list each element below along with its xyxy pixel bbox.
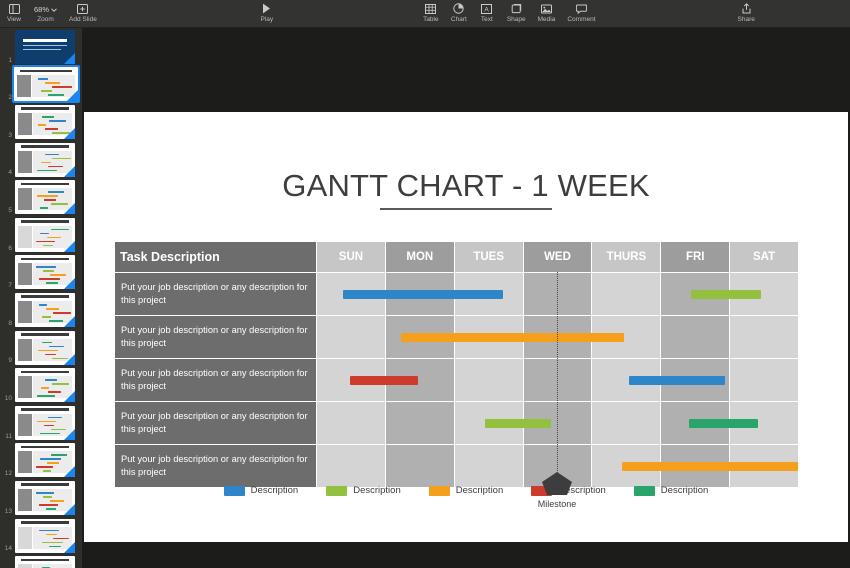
- thumb-task-column: [18, 489, 32, 511]
- milestone-line: [557, 272, 558, 487]
- thumb-bar: [37, 170, 57, 172]
- gantt-cell-sun: [316, 445, 385, 487]
- slide-thumbnail-12[interactable]: 12: [0, 442, 82, 480]
- thumb-line: [23, 49, 61, 51]
- thumb-bar: [39, 304, 47, 306]
- thumbnail-frame[interactable]: [15, 331, 75, 365]
- thumb-bar: [36, 241, 55, 243]
- thumb-corner-flag: [64, 316, 75, 327]
- keynote-window: View 68% Zoom Add Slide Play: [0, 0, 850, 568]
- gantt-cell-thurs: [591, 273, 660, 315]
- thumb-bar: [36, 492, 54, 494]
- page-title: GANTT CHART - 1 WEEK: [84, 168, 848, 204]
- thumb-bar: [37, 421, 56, 423]
- table-button[interactable]: Table: [417, 0, 445, 24]
- shape-icon: [508, 2, 524, 15]
- slide-thumbnail-9[interactable]: 9: [0, 329, 82, 367]
- thumb-corner-flag: [64, 354, 75, 365]
- thumb-bar: [42, 342, 52, 344]
- thumb-corner-flag: [64, 429, 75, 440]
- thumb-task-column: [18, 376, 32, 398]
- thumb-bar: [46, 282, 58, 284]
- gantt-bar[interactable]: [689, 419, 759, 428]
- slide-number: 8: [2, 320, 15, 329]
- day-header-wed: WED: [523, 242, 592, 272]
- slide-navigator[interactable]: 123456789101112131415: [0, 28, 82, 568]
- day-header-sun: SUN: [316, 242, 385, 272]
- thumbnail-frame[interactable]: [15, 556, 75, 568]
- thumbnail-frame[interactable]: [15, 143, 75, 177]
- gantt-cell-sat: [729, 316, 798, 358]
- thumb-bar: [45, 82, 60, 84]
- gantt-header-row: Task DescriptionSUNMONTUESWEDTHURSFRISAT: [115, 242, 798, 272]
- thumbnail-frame[interactable]: [15, 368, 75, 402]
- slide-thumbnail-14[interactable]: 14: [0, 517, 82, 555]
- legend-swatch: [326, 486, 347, 496]
- gantt-bar[interactable]: [629, 376, 724, 385]
- thumb-corner-flag: [64, 278, 75, 289]
- thumb-bar: [39, 278, 60, 280]
- gantt-body: Put your job description or any descript…: [115, 272, 798, 487]
- svg-text:A: A: [485, 6, 490, 13]
- milestone-label: Milestone: [517, 499, 597, 509]
- gantt-bar[interactable]: [343, 290, 503, 299]
- thumbnail-preview: [15, 218, 75, 252]
- zoom-value: 68%: [34, 5, 49, 14]
- thumbnail-preview: [15, 368, 75, 402]
- gantt-bar[interactable]: [350, 376, 418, 385]
- table-icon: [423, 2, 439, 15]
- thumbnail-preview: [15, 30, 75, 64]
- thumbnail-preview: [15, 255, 75, 289]
- thumb-bar: [43, 245, 53, 247]
- legend-item: Description: [224, 485, 299, 496]
- add-slide-button[interactable]: Add Slide: [63, 0, 103, 24]
- legend-label: Description: [251, 485, 299, 496]
- slide-number: 6: [2, 245, 15, 254]
- thumb-task-column: [18, 451, 32, 473]
- thumbnail-frame[interactable]: [12, 65, 80, 103]
- text-icon: A: [479, 2, 495, 15]
- table-row[interactable]: Put your job description or any descript…: [115, 272, 798, 315]
- thumb-task-column: [18, 301, 32, 323]
- thumb-corner-flag: [64, 241, 75, 252]
- legend-item: Description: [429, 485, 504, 496]
- thumb-task-column: [18, 527, 32, 549]
- slide-thumbnail-1[interactable]: 1: [0, 28, 82, 66]
- thumb-corner-flag: [64, 391, 75, 402]
- thumb-bar: [48, 166, 63, 168]
- slide-number: 4: [2, 169, 15, 178]
- thumbnail-frame[interactable]: [15, 519, 75, 553]
- thumb-bar: [39, 530, 59, 532]
- thumb-bar: [48, 391, 61, 393]
- thumb-bar: [48, 191, 64, 193]
- thumbnail-frame[interactable]: [15, 293, 75, 327]
- thumb-bar: [53, 538, 69, 540]
- legend-swatch: [224, 486, 245, 496]
- thumbnail-frame[interactable]: [15, 481, 75, 515]
- thumbnail-frame[interactable]: [15, 105, 75, 139]
- thumb-bar: [49, 346, 64, 348]
- slide-thumbnail-11[interactable]: 11: [0, 404, 82, 442]
- table-row[interactable]: Put your job description or any descript…: [115, 358, 798, 401]
- thumb-title-bar: [21, 521, 69, 524]
- thumb-bar: [43, 470, 51, 472]
- slide-canvas[interactable]: GANTT CHART - 1 WEEK Task DescriptionSUN…: [84, 112, 848, 542]
- add-slide-icon: [75, 2, 91, 15]
- play-icon: [259, 2, 275, 15]
- thumb-bar: [38, 78, 48, 80]
- chart-button[interactable]: Chart: [445, 0, 473, 24]
- slide-thumbnail-4[interactable]: 4: [0, 141, 82, 179]
- slide-number: 10: [2, 395, 15, 404]
- thumbnail-frame[interactable]: [15, 30, 75, 64]
- gantt-bar[interactable]: [485, 419, 552, 428]
- thumb-bar: [44, 199, 56, 201]
- thumb-bar: [42, 316, 51, 318]
- thumbnail-preview: [15, 481, 75, 515]
- gantt-cell-fri: [660, 316, 729, 358]
- thumb-title-bar: [21, 220, 69, 223]
- title-underline: [380, 208, 552, 210]
- thumb-task-column: [18, 151, 32, 173]
- table-row[interactable]: Put your job description or any descript…: [115, 401, 798, 444]
- view-button[interactable]: View: [0, 0, 28, 24]
- thumbnail-preview: [15, 556, 75, 568]
- thumb-title-bar: [21, 183, 69, 186]
- thumb-bar: [50, 274, 66, 276]
- thumb-bar: [37, 395, 55, 397]
- thumb-line: [23, 45, 67, 47]
- gantt-cell-tues: [454, 359, 523, 401]
- chart-legend: DescriptionDescriptionDescriptionDescrip…: [84, 485, 848, 496]
- thumb-bar: [48, 94, 64, 96]
- thumb-bar: [37, 195, 58, 197]
- slide-thumbnail-8[interactable]: 8: [0, 291, 82, 329]
- add-slide-label: Add Slide: [69, 16, 97, 24]
- slide-thumbnail-6[interactable]: 6: [0, 216, 82, 254]
- slide-number: 7: [2, 282, 15, 291]
- thumb-bar: [47, 237, 61, 239]
- thumbnail-frame[interactable]: [15, 443, 75, 477]
- thumb-bar: [49, 320, 63, 322]
- slide-number: 1: [2, 57, 15, 66]
- comment-icon: [573, 2, 589, 15]
- share-label: Share: [738, 16, 755, 24]
- share-button[interactable]: Share: [732, 0, 761, 24]
- legend-swatch: [634, 486, 655, 496]
- share-icon: [738, 2, 754, 15]
- thumb-task-column: [18, 113, 32, 135]
- comment-label: Comment: [567, 16, 595, 24]
- chart-label: Chart: [451, 16, 467, 24]
- legend-label: Description: [456, 485, 504, 496]
- shape-label: Shape: [507, 16, 526, 24]
- play-button[interactable]: Play: [253, 0, 281, 24]
- task-description-cell: Put your job description or any descript…: [115, 401, 316, 444]
- task-description-cell: Put your job description or any descript…: [115, 315, 316, 358]
- thumb-title-bar: [21, 483, 69, 486]
- slide-thumbnail-5[interactable]: 5: [0, 178, 82, 216]
- thumb-bar: [44, 425, 54, 427]
- zoom-control[interactable]: 68% Zoom: [28, 0, 63, 24]
- legend-label: Description: [353, 485, 401, 496]
- thumb-bar: [36, 266, 56, 268]
- slide-number: 11: [2, 433, 15, 442]
- thumb-title-bar: [21, 333, 69, 336]
- media-icon: [539, 2, 555, 15]
- thumb-bar: [45, 354, 56, 356]
- task-description-cell: Put your job description or any descript…: [115, 444, 316, 487]
- slide-thumbnail-7[interactable]: 7: [0, 254, 82, 292]
- thumb-bar: [48, 417, 62, 419]
- day-header-mon: MON: [385, 242, 454, 272]
- thumb-task-column: [18, 564, 32, 568]
- thumb-bar: [49, 120, 66, 122]
- gantt-chart: Task DescriptionSUNMONTUESWEDTHURSFRISAT…: [115, 242, 798, 487]
- thumb-bar: [36, 466, 53, 468]
- legend-item: Description: [634, 485, 709, 496]
- thumb-grid: [33, 564, 72, 568]
- sidebar-icon: [6, 2, 22, 15]
- thumb-bar: [49, 546, 61, 548]
- thumb-title-bar: [21, 295, 69, 298]
- thumb-bar: [52, 86, 72, 88]
- thumb-task-column: [17, 75, 31, 97]
- slide-thumbnail-15[interactable]: 15: [0, 554, 82, 568]
- thumb-bar: [42, 116, 54, 118]
- thumbnail-frame[interactable]: [15, 255, 75, 289]
- gantt-cell-sat: [729, 359, 798, 401]
- thumb-bar: [45, 128, 58, 130]
- slide-number: 12: [2, 470, 15, 479]
- day-header-tues: TUES: [454, 242, 523, 272]
- thumbnail-frame[interactable]: [15, 180, 75, 214]
- thumbnail-preview: [15, 331, 75, 365]
- thumb-corner-flag: [64, 128, 75, 139]
- gantt-cell-thurs: [591, 402, 660, 444]
- thumb-corner-flag: [64, 466, 75, 477]
- text-button[interactable]: A Text: [473, 0, 501, 24]
- thumb-line: [23, 39, 67, 42]
- day-header-thurs: THURS: [591, 242, 660, 272]
- zoom-value-row[interactable]: 68%: [34, 2, 57, 15]
- slide-number: 14: [2, 545, 15, 554]
- thumb-corner-flag: [64, 203, 75, 214]
- thumbnail-preview: [15, 519, 75, 553]
- thumb-title-bar: [20, 70, 72, 73]
- day-header-fri: FRI: [660, 242, 729, 272]
- thumb-bar: [41, 90, 52, 92]
- slide-thumbnail-10[interactable]: 10: [0, 366, 82, 404]
- thumb-bar: [46, 508, 56, 510]
- thumb-bar: [46, 308, 59, 310]
- media-button[interactable]: Media: [532, 0, 562, 24]
- slide-number: 9: [2, 357, 15, 366]
- insert-tools: Table Chart A Text Shape: [417, 0, 602, 24]
- thumb-bar: [52, 383, 69, 385]
- table-label: Table: [423, 16, 439, 24]
- slide-number: 5: [2, 207, 15, 216]
- thumb-task-column: [18, 188, 32, 210]
- comment-button[interactable]: Comment: [561, 0, 601, 24]
- thumb-bar: [51, 454, 67, 456]
- thumbnail-preview: [14, 67, 78, 101]
- thumb-bar: [52, 158, 71, 160]
- thumb-bar: [46, 534, 57, 536]
- gantt-cell-sun: [316, 402, 385, 444]
- thumb-title-bar: [21, 371, 69, 374]
- thumb-bar: [45, 379, 57, 381]
- slide-thumbnail-2[interactable]: 2: [0, 66, 82, 104]
- thumb-corner-flag: [64, 53, 75, 64]
- chevron-down-icon: [51, 5, 57, 14]
- slide-number: 3: [2, 132, 15, 141]
- thumb-task-column: [18, 263, 32, 285]
- media-label: Media: [538, 16, 556, 24]
- task-description-cell: Put your job description or any descript…: [115, 272, 316, 315]
- thumb-corner-flag: [64, 504, 75, 515]
- thumb-bar: [38, 124, 46, 126]
- thumb-bar: [40, 233, 49, 235]
- thumb-task-column: [18, 226, 32, 248]
- task-description-cell: Put your job description or any descript…: [115, 358, 316, 401]
- thumb-task-column: [18, 339, 32, 361]
- slide-thumbnail-13[interactable]: 13: [0, 479, 82, 517]
- table-row[interactable]: Put your job description or any descript…: [115, 315, 798, 358]
- thumb-corner-flag: [67, 90, 78, 101]
- gantt-bar[interactable]: [622, 462, 798, 471]
- table-row[interactable]: Put your job description or any descript…: [115, 444, 798, 487]
- thumb-bar: [41, 387, 49, 389]
- thumb-title-bar: [21, 408, 69, 411]
- thumb-bar: [42, 542, 63, 544]
- thumb-title-bar: [21, 559, 69, 562]
- thumb-bar: [39, 504, 58, 506]
- thumb-bar: [43, 270, 54, 272]
- task-description-header: Task Description: [115, 242, 316, 272]
- thumb-bar: [40, 433, 60, 435]
- thumb-task-column: [18, 414, 32, 436]
- view-label: View: [7, 16, 21, 24]
- text-label: Text: [481, 16, 493, 24]
- main-toolbar: View 68% Zoom Add Slide Play: [0, 0, 850, 28]
- thumbnail-preview: [15, 105, 75, 139]
- day-header-sat: SAT: [729, 242, 798, 272]
- play-label: Play: [261, 16, 274, 24]
- thumbnail-preview: [15, 143, 75, 177]
- legend-swatch: [429, 486, 450, 496]
- shape-button[interactable]: Shape: [501, 0, 532, 24]
- thumb-bar: [50, 500, 64, 502]
- thumb-corner-flag: [64, 542, 75, 553]
- thumbnail-preview: [15, 406, 75, 440]
- thumb-bar: [47, 462, 59, 464]
- thumb-bar: [51, 229, 69, 231]
- thumb-title-bar: [21, 258, 69, 261]
- legend-item: Description: [326, 485, 401, 496]
- thumb-bar: [40, 207, 48, 209]
- canvas-area: GANTT CHART - 1 WEEK Task DescriptionSUN…: [82, 28, 850, 568]
- zoom-label: Zoom: [37, 16, 54, 24]
- gantt-cell-sun: [316, 316, 385, 358]
- thumb-bar: [45, 154, 59, 156]
- thumb-bar: [53, 312, 71, 314]
- thumbnail-frame[interactable]: [15, 218, 75, 252]
- gantt-cell-mon: [385, 402, 454, 444]
- gantt-cell-tues: [454, 445, 523, 487]
- gantt-bar[interactable]: [401, 333, 624, 342]
- milestone-marker-icon[interactable]: [539, 471, 575, 497]
- thumbnail-frame[interactable]: [15, 406, 75, 440]
- thumbnail-preview: [15, 180, 75, 214]
- thumb-bar: [41, 162, 51, 164]
- thumb-corner-flag: [64, 166, 75, 177]
- slide-thumbnail-3[interactable]: 3: [0, 103, 82, 141]
- thumb-title-bar: [21, 446, 69, 449]
- thumb-title-bar: [21, 145, 69, 148]
- legend-label: Description: [661, 485, 709, 496]
- gantt-cell-mon: [385, 445, 454, 487]
- thumb-bar: [40, 458, 61, 460]
- gantt-bar[interactable]: [691, 290, 761, 299]
- slide-number: 13: [2, 508, 15, 517]
- thumb-title-bar: [21, 107, 69, 110]
- thumb-bar: [38, 350, 58, 352]
- chart-icon: [451, 2, 467, 15]
- thumbnail-preview: [15, 443, 75, 477]
- thumb-bar: [43, 496, 52, 498]
- thumbnail-preview: [15, 293, 75, 327]
